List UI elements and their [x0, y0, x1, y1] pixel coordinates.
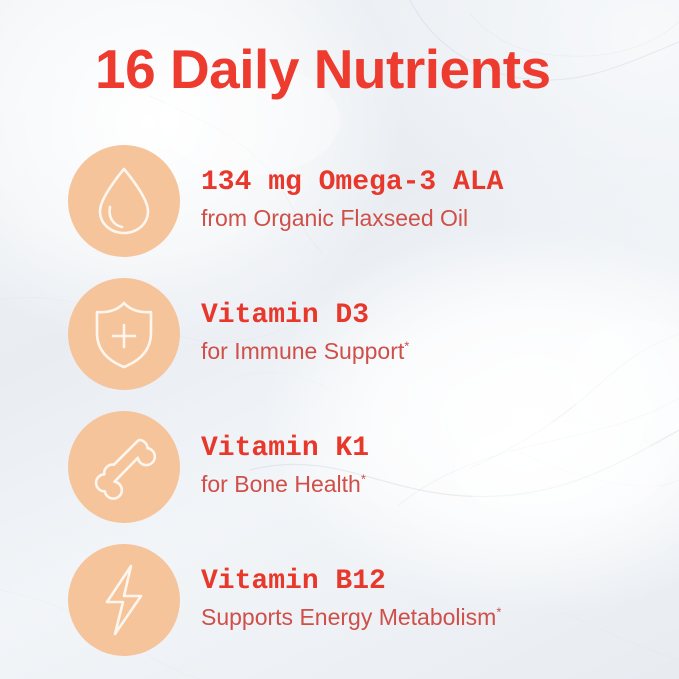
shield-plus-icon-badge [68, 278, 180, 390]
nutrient-headline: Vitamin B12 [201, 565, 501, 599]
nutrient-headline: Vitamin D3 [201, 299, 409, 333]
nutrient-subtext-label: Supports Energy Metabolism [201, 604, 496, 630]
list-item-text: 134 mg Omega-3 ALA from Organic Flaxseed… [201, 166, 503, 235]
footnote-marker: * [361, 471, 366, 486]
bone-icon-badge [68, 411, 180, 523]
droplet-icon [92, 165, 156, 237]
nutrient-subtext: for Immune Support* [201, 336, 409, 366]
nutrient-subtext-label: for Immune Support [201, 338, 404, 364]
nutrient-subtext: for Bone Health* [201, 469, 369, 499]
lightning-bolt-icon [94, 562, 154, 638]
page-title: 16 Daily Nutrients [95, 38, 551, 100]
nutrient-subtext: Supports Energy Metabolism* [201, 602, 501, 632]
list-item-text: Vitamin D3 for Immune Support* [201, 299, 409, 368]
list-item: Vitamin D3 for Immune Support* [0, 267, 679, 400]
list-item: 134 mg Omega-3 ALA from Organic Flaxseed… [0, 134, 679, 267]
list-item: Vitamin K1 for Bone Health* [0, 400, 679, 533]
droplet-icon-badge [68, 145, 180, 257]
list-item-text: Vitamin K1 for Bone Health* [201, 432, 369, 501]
shield-plus-icon [89, 297, 159, 371]
list-item-text: Vitamin B12 Supports Energy Metabolism* [201, 565, 501, 634]
footnote-marker: * [404, 338, 409, 353]
lightning-bolt-icon-badge [68, 544, 180, 656]
nutrition-infographic: 16 Daily Nutrients 134 mg Omega-3 ALA fr… [0, 0, 679, 679]
footnote-marker: * [496, 604, 501, 619]
nutrient-headline: Vitamin K1 [201, 432, 369, 466]
nutrient-list: 134 mg Omega-3 ALA from Organic Flaxseed… [0, 134, 679, 666]
list-item: Vitamin B12 Supports Energy Metabolism* [0, 533, 679, 666]
nutrient-subtext-label: from Organic Flaxseed Oil [201, 205, 468, 231]
nutrient-subtext-label: for Bone Health [201, 471, 361, 497]
nutrient-headline: 134 mg Omega-3 ALA [201, 166, 503, 200]
bone-icon [87, 430, 161, 504]
nutrient-subtext: from Organic Flaxseed Oil [201, 203, 503, 233]
